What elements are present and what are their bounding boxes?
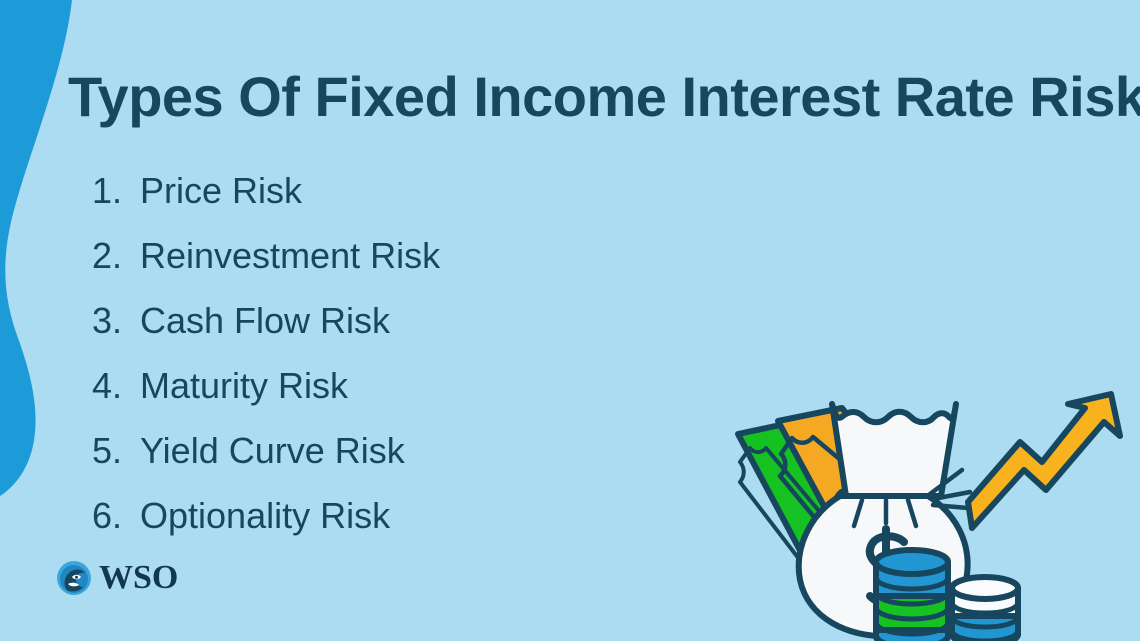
slide-canvas: Types Of Fixed Income Interest Rate Risk… — [0, 0, 1140, 641]
wso-logo[interactable]: WSO — [56, 560, 178, 596]
list-item-number: 2. — [92, 223, 140, 288]
list-item-number: 1. — [92, 158, 140, 223]
list-item-label: Optionality Risk — [140, 483, 390, 548]
list-item-label: Cash Flow Risk — [140, 288, 390, 353]
page-title: Types Of Fixed Income Interest Rate Risk — [68, 66, 1108, 128]
list-item: 1. Price Risk — [92, 158, 712, 223]
coin-stack-left-icon — [876, 550, 948, 641]
risk-type-list: 1. Price Risk 2. Reinvestment Risk 3. Ca… — [92, 158, 712, 548]
list-item: 6. Optionality Risk — [92, 483, 712, 548]
growth-arrow-icon — [968, 394, 1120, 528]
list-item: 3. Cash Flow Risk — [92, 288, 712, 353]
wso-wordmark: WSO — [99, 561, 178, 595]
list-item-number: 4. — [92, 353, 140, 418]
list-item-label: Reinvestment Risk — [140, 223, 440, 288]
list-item: 4. Maturity Risk — [92, 353, 712, 418]
list-item-number: 3. — [92, 288, 140, 353]
list-item-number: 5. — [92, 418, 140, 483]
list-item: 2. Reinvestment Risk — [92, 223, 712, 288]
list-item-number: 6. — [92, 483, 140, 548]
list-item-label: Maturity Risk — [140, 353, 348, 418]
list-item-label: Price Risk — [140, 158, 302, 223]
list-item-label: Yield Curve Risk — [140, 418, 405, 483]
wso-globe-icon — [56, 560, 92, 596]
money-bag-cash-coins-arrow-graphic — [680, 366, 1140, 641]
coin-stack-right-icon — [952, 577, 1018, 641]
money-illustration — [680, 366, 1140, 641]
list-item: 5. Yield Curve Risk — [92, 418, 712, 483]
